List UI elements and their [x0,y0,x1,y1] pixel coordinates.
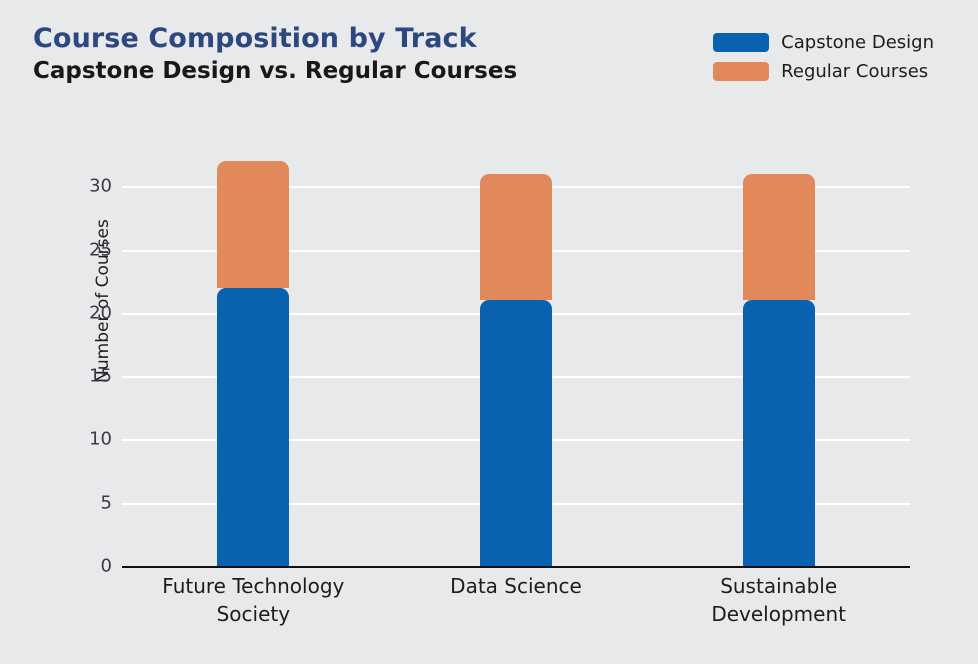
y-tick-label: 0 [101,556,112,577]
bar-segment-regular-courses[interactable] [743,174,815,301]
y-tick-label: 25 [89,239,112,260]
legend-swatch-capstone-design [713,33,769,52]
legend-label-regular-courses: Regular Courses [781,61,928,82]
bar-group[interactable] [480,142,552,566]
legend-label-capstone-design: Capstone Design [781,32,934,53]
plot-area [122,142,910,566]
x-tick-label: Future Technology Society [128,572,378,628]
legend-swatch-regular-courses [713,62,769,81]
bars-layer [122,142,910,566]
y-tick-label: 5 [101,492,112,513]
y-tick-label: 15 [89,366,112,387]
bar-segment-regular-courses[interactable] [480,174,552,301]
legend-item-regular-courses[interactable]: Regular Courses [713,61,934,82]
y-tick-label: 20 [89,302,112,323]
y-tick-label: 30 [89,176,112,197]
bar-group[interactable] [743,142,815,566]
bar-segment-capstone-design[interactable] [743,300,815,566]
chart-legend: Capstone Design Regular Courses [713,32,934,82]
bar-group[interactable] [217,142,289,566]
bar-segment-regular-courses[interactable] [217,161,289,288]
y-tick-label: 10 [89,429,112,450]
bar-segment-capstone-design[interactable] [480,300,552,566]
legend-item-capstone-design[interactable]: Capstone Design [713,32,934,53]
x-tick-label: Sustainable Development [654,572,904,628]
title-block: Course Composition by Track Capstone Des… [33,22,517,86]
chart-figure: Course Composition by Track Capstone Des… [0,0,978,664]
x-axis-baseline [122,566,910,568]
chart-subtitle: Capstone Design vs. Regular Courses [33,56,517,86]
page-title: Course Composition by Track [33,22,517,56]
y-axis-tick-labels: 051015202530 [72,142,112,566]
x-tick-label: Data Science [391,572,641,600]
x-axis-tick-labels: Future Technology SocietyData ScienceSus… [122,572,910,652]
bar-segment-capstone-design[interactable] [217,288,289,566]
